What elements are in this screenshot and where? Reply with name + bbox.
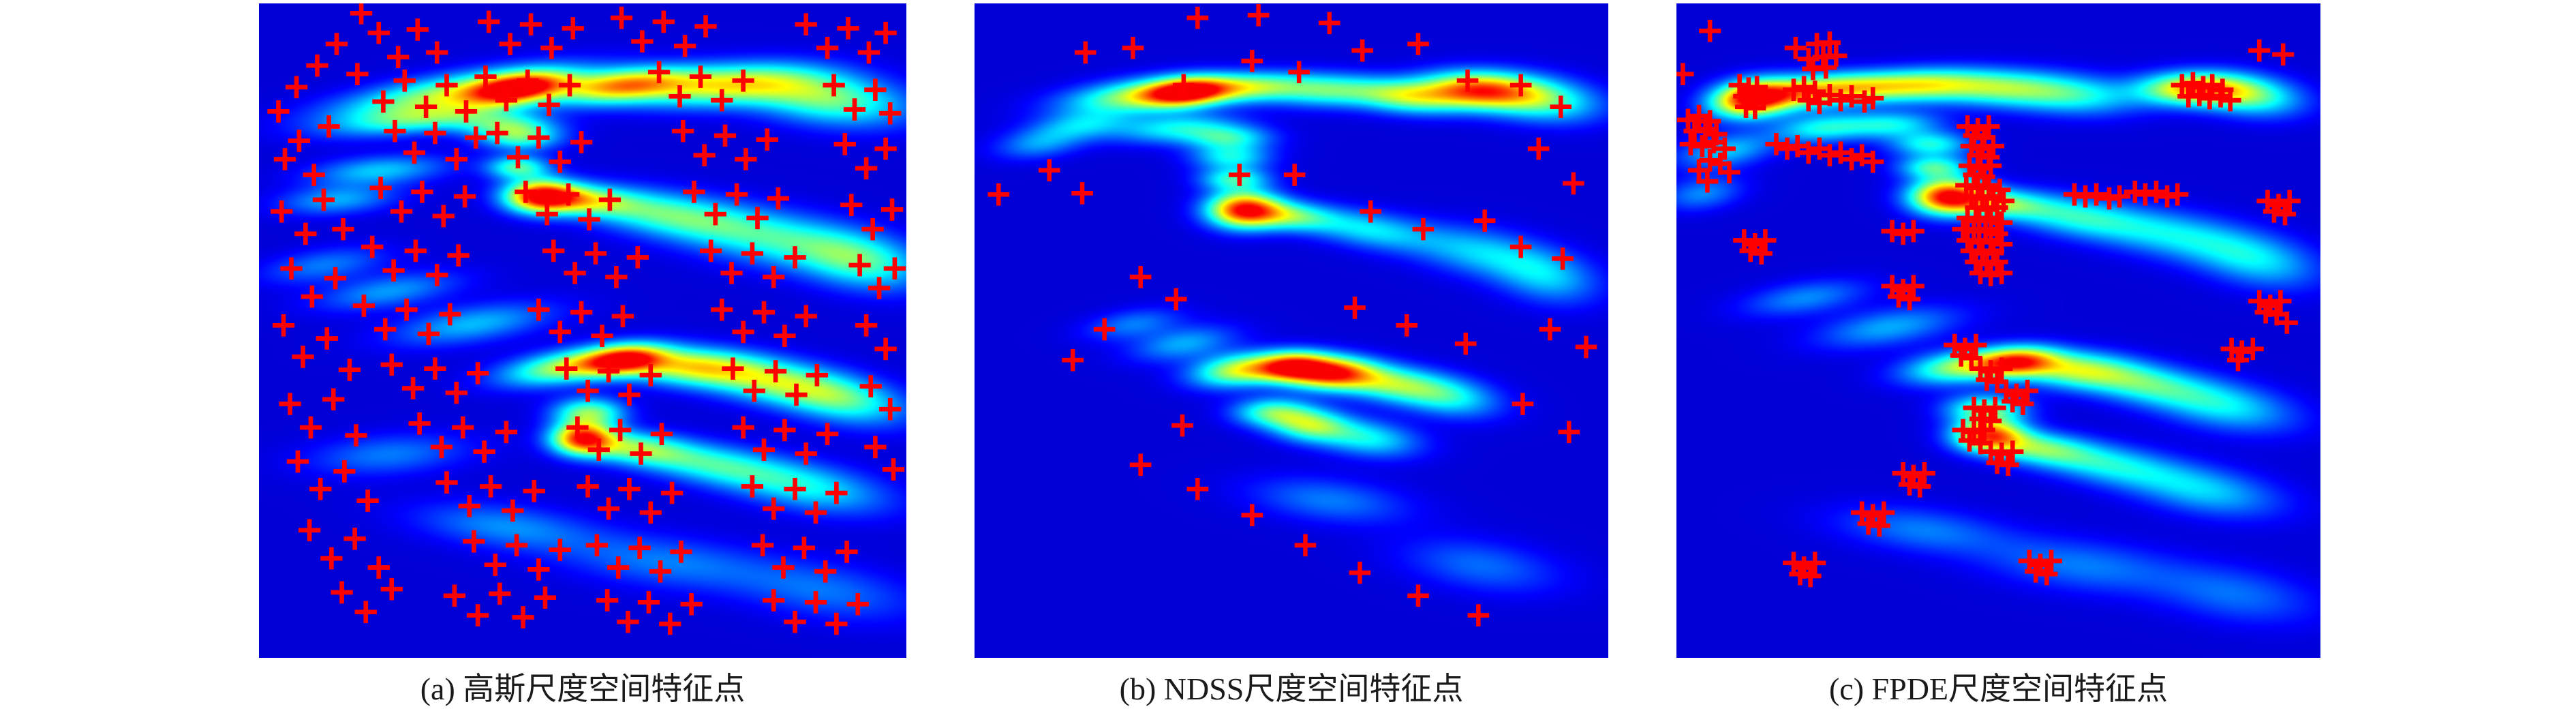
panel-row [0, 0, 2576, 661]
caption-panel-c: (c) FPDE尺度空间特征点 [1676, 665, 2320, 714]
heatmap-canvas-c [1676, 3, 2320, 658]
heatmap-canvas-a [259, 3, 906, 658]
figure-container: (a) 高斯尺度空间特征点 (b) NDSS尺度空间特征点 (c) FPDE尺度… [0, 0, 2576, 726]
heatmap-canvas-b [975, 3, 1608, 658]
caption-row: (a) 高斯尺度空间特征点 (b) NDSS尺度空间特征点 (c) FPDE尺度… [0, 665, 2576, 726]
panel-gaussian-scale-space [259, 3, 906, 658]
panel-fpde-scale-space [1676, 3, 2320, 658]
caption-panel-a: (a) 高斯尺度空间特征点 [259, 665, 906, 714]
caption-panel-b: (b) NDSS尺度空间特征点 [975, 665, 1608, 714]
panel-ndss-scale-space [975, 3, 1608, 658]
